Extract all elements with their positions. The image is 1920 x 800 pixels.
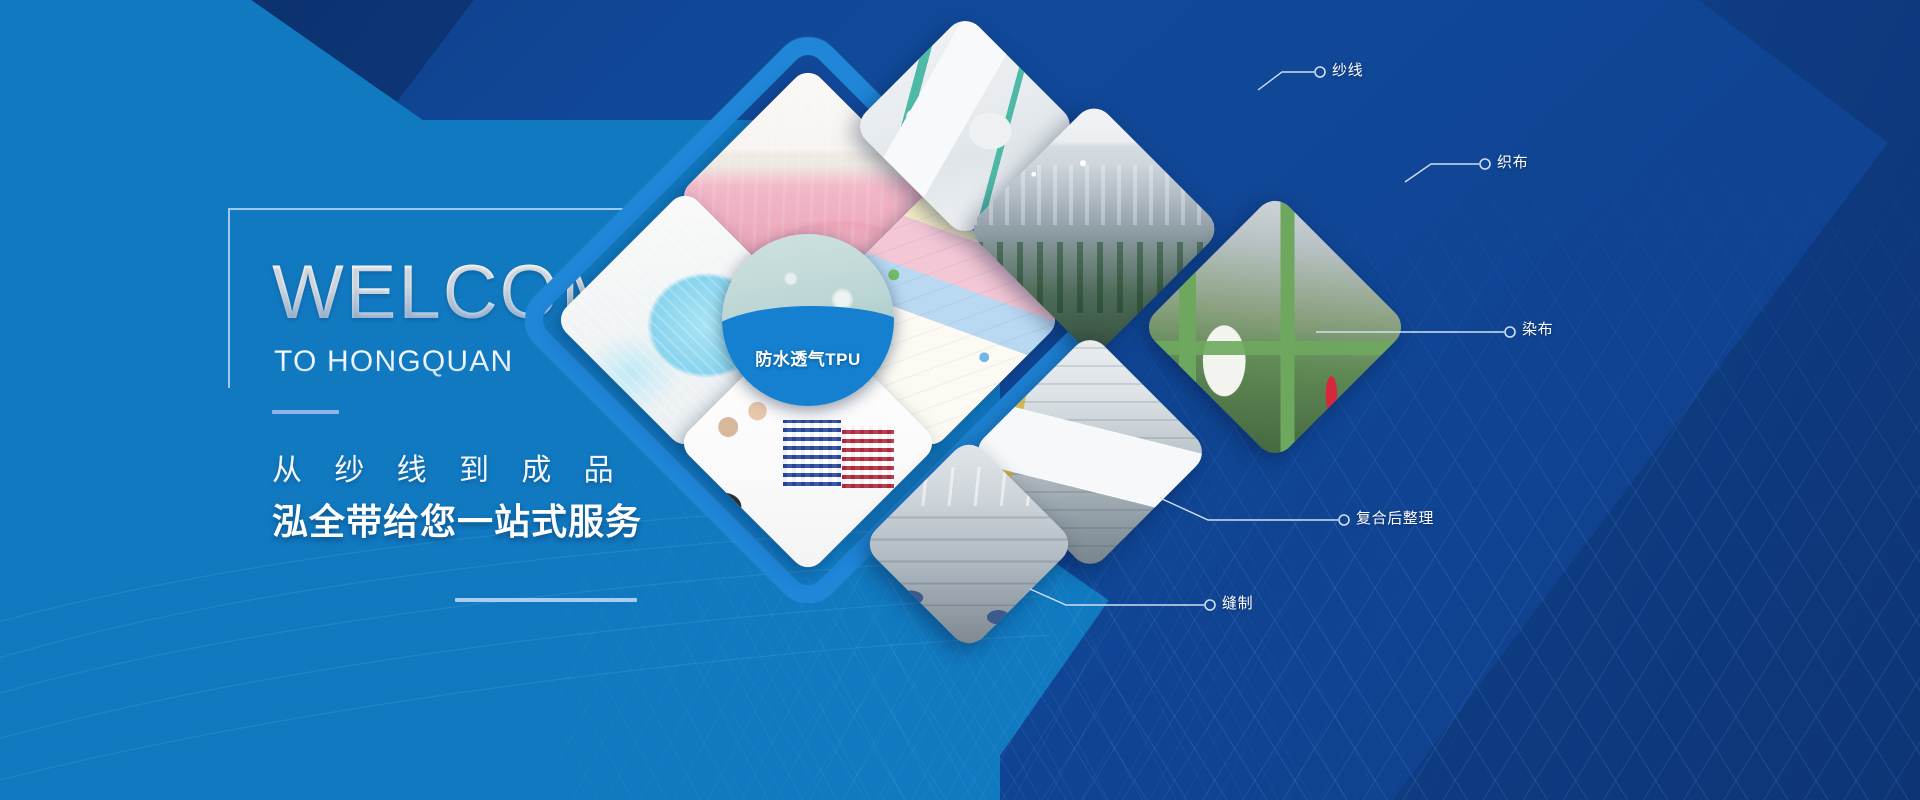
page-subtitle: TO HONGQUAN bbox=[274, 345, 513, 379]
hero-banner: WELCOME TO HONGQUAN 从 纱 线 到 成 品 泓全带给您一站式… bbox=[0, 0, 1920, 800]
headline-chinese: 泓全带给您一站式服务 bbox=[272, 493, 642, 545]
tpu-badge-label: 防水透气TPU bbox=[722, 345, 894, 370]
tagline-chinese: 从 纱 线 到 成 品 bbox=[272, 445, 626, 489]
divider-short bbox=[272, 410, 339, 414]
tpu-feature-badge[interactable]: 防水透气TPU bbox=[722, 234, 894, 406]
divider-long bbox=[455, 598, 637, 602]
